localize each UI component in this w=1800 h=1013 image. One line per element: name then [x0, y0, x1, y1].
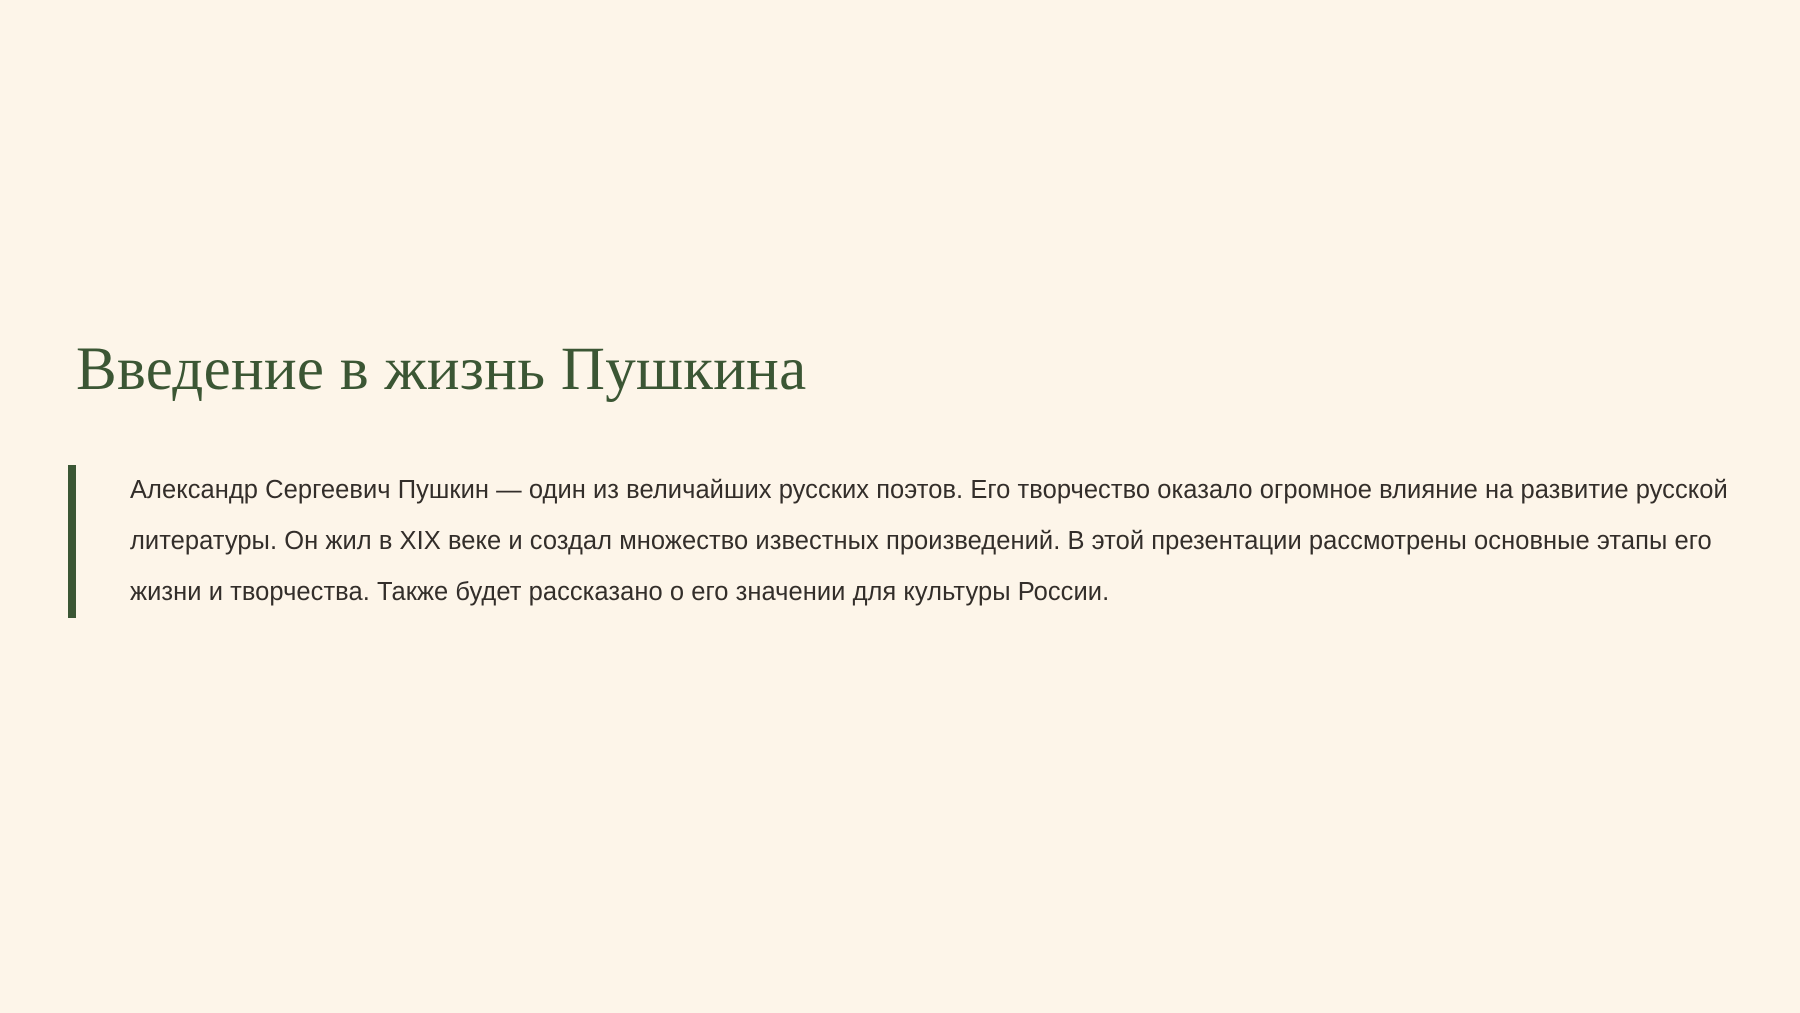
accent-bar	[68, 465, 76, 618]
page-title: Введение в жизнь Пушкина	[76, 338, 807, 402]
slide-canvas: Введение в жизнь Пушкина Александр Серге…	[0, 0, 1800, 1013]
body-callout: Александр Сергеевич Пушкин — один из вел…	[68, 465, 1758, 618]
body-paragraph: Александр Сергеевич Пушкин — один из вел…	[76, 465, 1758, 618]
